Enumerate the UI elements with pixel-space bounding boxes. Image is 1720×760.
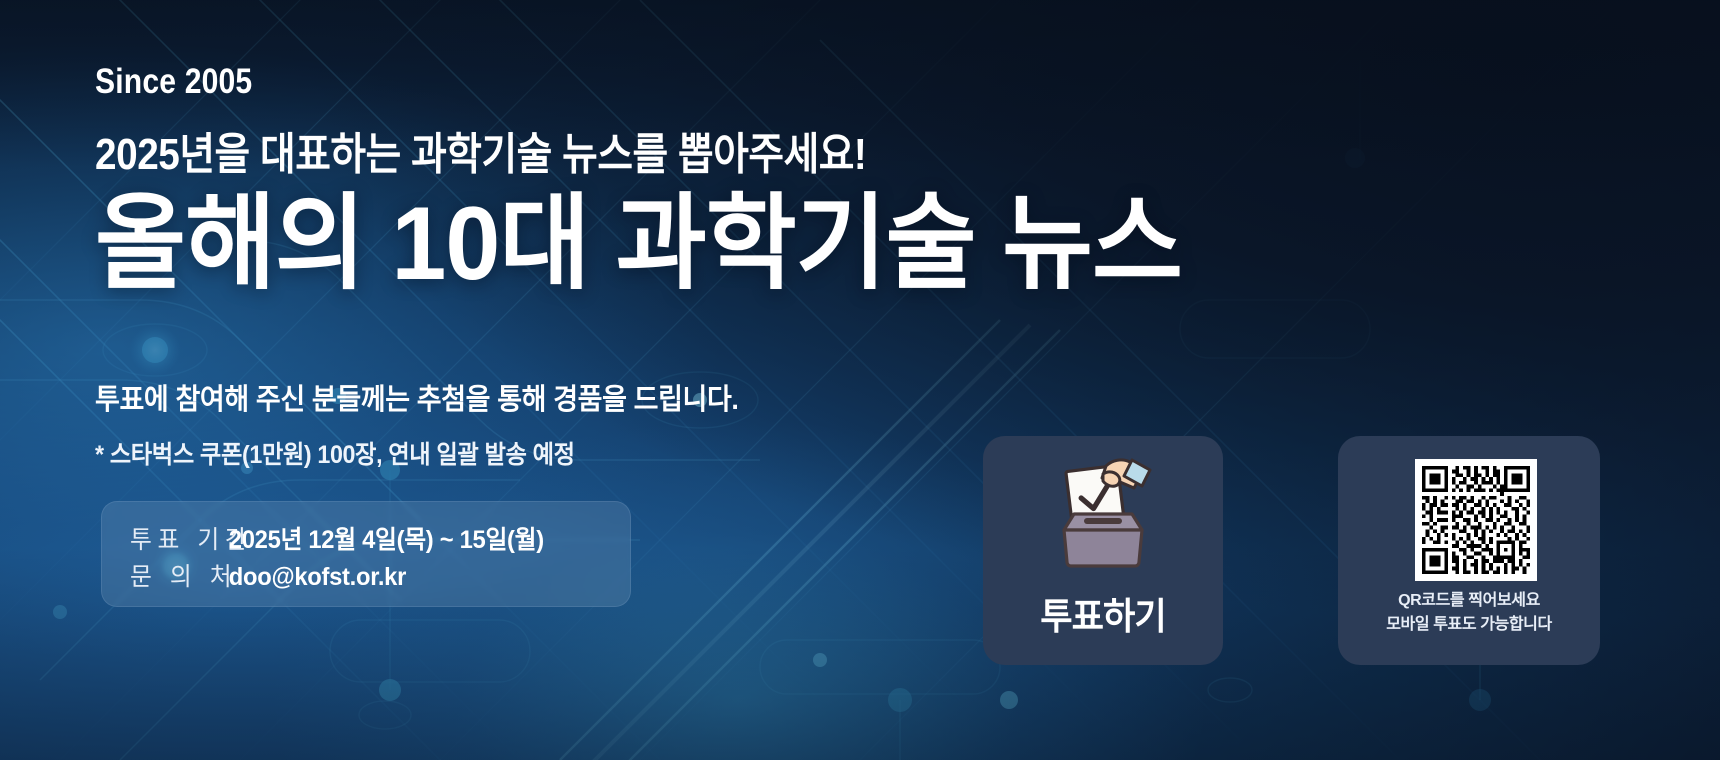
voting-period-label: 투표 기간 bbox=[130, 520, 229, 556]
contact-email[interactable]: doo@kofst.or.kr bbox=[229, 563, 406, 592]
page-title: 올해의 10대 과학기술 뉴스 bbox=[95, 186, 1182, 302]
since-label: Since 2005 bbox=[95, 62, 252, 102]
prize-lead-text: 투표에 참여해 주신 분들께는 추첨을 통해 경품을 드립니다. bbox=[95, 376, 739, 418]
ballot-box-icon bbox=[1040, 452, 1166, 578]
promo-banner: Since 2005 2025년을 대표하는 과학기술 뉴스를 뽑아주세요! 올… bbox=[0, 0, 1720, 760]
qr-caption-line1: QR코드를 찍어보세요 bbox=[1338, 586, 1600, 610]
qr-caption-line2: 모바일 투표도 가능합니다 bbox=[1338, 610, 1600, 634]
subheadline: 2025년을 대표하는 과학기술 뉴스를 뽑아주세요! bbox=[95, 118, 866, 182]
voting-period-value: 2025년 12월 4일(목) ~ 15일(월) bbox=[229, 520, 544, 556]
qr-code-icon[interactable] bbox=[1415, 459, 1537, 581]
vote-button-label[interactable]: 투표하기 bbox=[989, 586, 1217, 640]
voting-period-row: 투표 기간 2025년 12월 4일(목) ~ 15일(월) bbox=[130, 520, 544, 556]
contact-row: 문 의 처 doo@kofst.or.kr bbox=[130, 557, 406, 593]
prize-detail-note: * 스타벅스 쿠폰(1만원) 100장, 연내 일괄 발송 예정 bbox=[95, 435, 575, 471]
contact-label: 문 의 처 bbox=[130, 557, 229, 593]
